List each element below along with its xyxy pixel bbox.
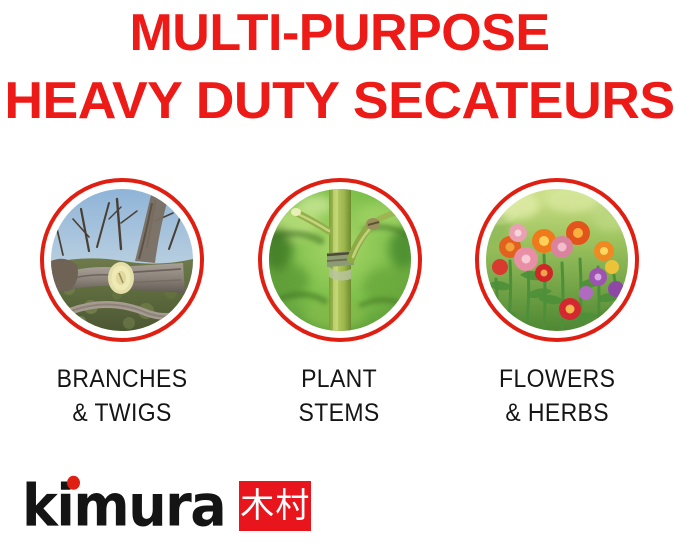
logo-wordmark-text: kimura	[22, 471, 225, 539]
logo-wordmark: kimura	[22, 477, 225, 535]
product-feature-banner: MULTI-PURPOSE HEAVY DUTY SECATEURS	[0, 0, 679, 547]
headline-line-1: MULTI-PURPOSE	[0, 0, 679, 62]
logo-kanji-text: 木村	[240, 489, 310, 523]
logo-red-dot-icon	[67, 476, 80, 490]
caption-stems-line2: STEMS	[299, 396, 380, 430]
caption-stems-line1: PLANT	[299, 362, 380, 396]
photo-ring-flowers	[475, 178, 639, 342]
brand-logo: kimura 木村	[22, 479, 311, 533]
cut-tree-branch-photo	[51, 189, 193, 331]
caption-flowers-line2: & HERBS	[499, 396, 615, 430]
feature-stems: PLANT STEMS	[254, 178, 426, 430]
caption-branches-line2: & TWIGS	[57, 396, 188, 430]
caption-flowers-line1: FLOWERS	[499, 362, 615, 396]
feature-branches: BRANCHES & TWIGS	[36, 178, 208, 430]
feature-flowers: FLOWERS & HERBS	[471, 178, 643, 430]
photo-ring-branches	[40, 178, 204, 342]
caption-flowers: FLOWERS & HERBS	[499, 362, 615, 430]
caption-stems: PLANT STEMS	[299, 362, 380, 430]
feature-row: BRANCHES & TWIGS	[0, 178, 679, 430]
caption-branches: BRANCHES & TWIGS	[57, 362, 188, 430]
green-plant-stem-photo	[269, 189, 411, 331]
logo-kanji-badge: 木村	[239, 481, 311, 531]
headline-block: MULTI-PURPOSE HEAVY DUTY SECATEURS	[0, 0, 679, 130]
photo-ring-stems	[258, 178, 422, 342]
colorful-flower-bed-photo	[486, 189, 628, 331]
headline-line-2: HEAVY DUTY SECATEURS	[0, 62, 679, 130]
caption-branches-line1: BRANCHES	[57, 362, 188, 396]
